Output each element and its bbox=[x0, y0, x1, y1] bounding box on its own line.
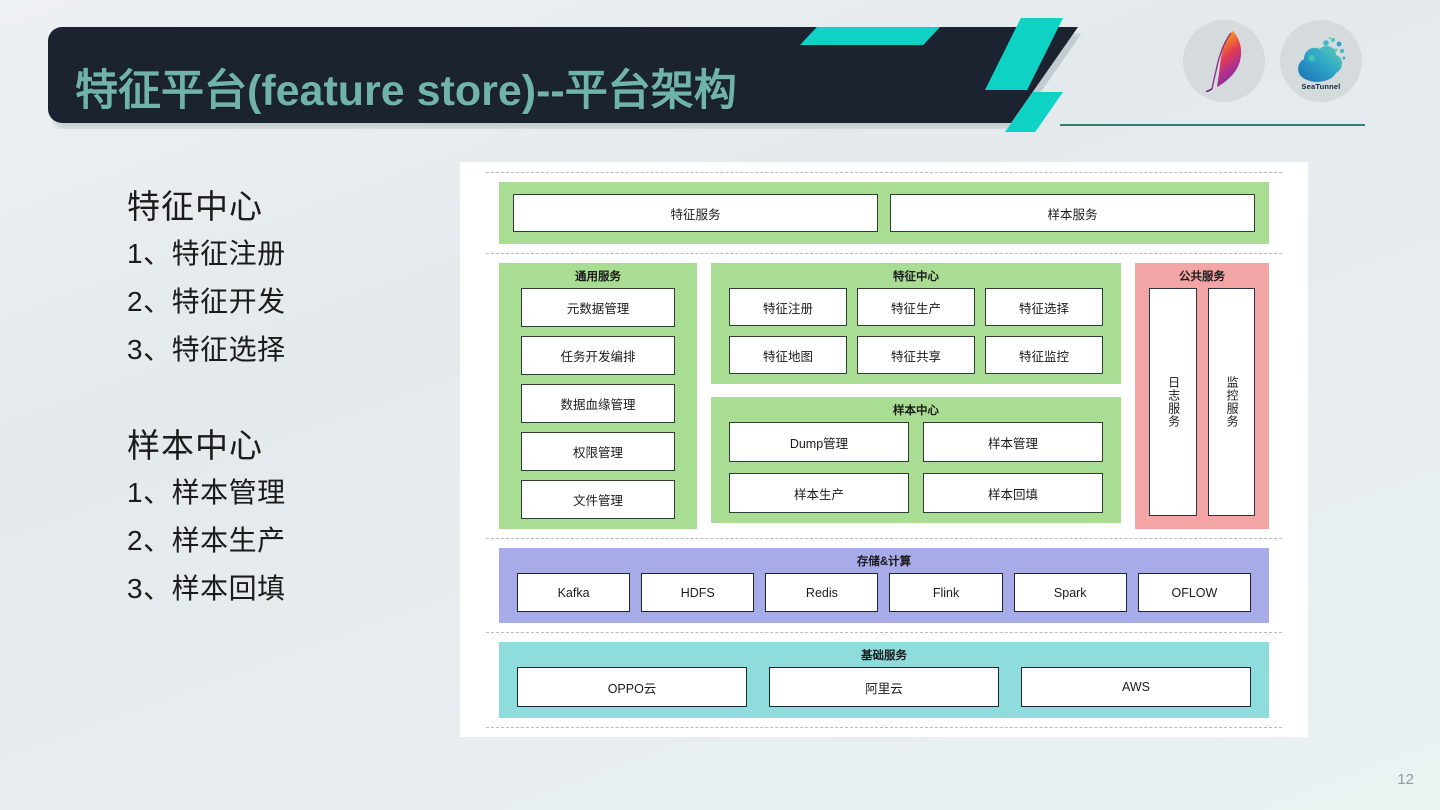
sample-center-item-1: 1、样本管理 bbox=[127, 469, 447, 517]
group-title-public-services: 公共服务 bbox=[1135, 263, 1269, 288]
page-title: 特征平台(feature store)--平台架构 bbox=[75, 56, 737, 118]
group-title-infrastructure: 基础服务 bbox=[499, 642, 1269, 667]
apache-feather-logo bbox=[1183, 20, 1265, 102]
cell-sample-backfill[interactable]: 样本回填 bbox=[923, 473, 1103, 513]
feature-center-item-2: 2、特征开发 bbox=[127, 278, 447, 326]
group-title-storage-compute: 存储&计算 bbox=[499, 548, 1269, 573]
cell-feature-monitoring[interactable]: 特征监控 bbox=[985, 336, 1103, 374]
cell-sample-management[interactable]: 样本管理 bbox=[923, 422, 1103, 462]
layer-core: 通用服务 元数据管理 任务开发编排 数据血缘管理 权限管理 文件管理 特征中心 … bbox=[499, 263, 1269, 529]
cell-oppo-cloud[interactable]: OPPO云 bbox=[517, 667, 747, 707]
cell-redis[interactable]: Redis bbox=[765, 573, 878, 612]
feature-center-item-1: 1、特征注册 bbox=[127, 230, 447, 278]
cell-log-service-label: 日志服务 bbox=[1166, 376, 1180, 428]
group-title-sample-center: 样本中心 bbox=[711, 397, 1121, 422]
title-accent-notch bbox=[800, 27, 940, 45]
cell-feature-sharing[interactable]: 特征共享 bbox=[857, 336, 975, 374]
group-common-services: 通用服务 元数据管理 任务开发编排 数据血缘管理 权限管理 文件管理 bbox=[499, 263, 697, 529]
group-centers: 特征中心 特征注册 特征生产 特征选择 特征地图 特征共享 特征监控 样本中心 … bbox=[711, 263, 1121, 529]
group-sample-center: 样本中心 Dump管理 样本管理 样本生产 样本回填 bbox=[711, 397, 1121, 523]
layer-storage-compute: 存储&计算 Kafka HDFS Redis Flink Spark OFLOW bbox=[499, 548, 1269, 623]
layer-infrastructure: 基础服务 OPPO云 阿里云 AWS bbox=[499, 642, 1269, 718]
cell-log-service[interactable]: 日志服务 bbox=[1149, 288, 1197, 516]
group-public-services: 公共服务 日志服务 监控服务 bbox=[1135, 263, 1269, 529]
cell-dump-management[interactable]: Dump管理 bbox=[729, 422, 909, 462]
cell-spark[interactable]: Spark bbox=[1014, 573, 1127, 612]
left-content-column: 特征中心 1、特征注册 2、特征开发 3、特征选择 样本中心 1、样本管理 2、… bbox=[127, 185, 447, 613]
cell-hdfs[interactable]: HDFS bbox=[641, 573, 754, 612]
cell-file-management[interactable]: 文件管理 bbox=[521, 480, 675, 519]
divider-dashed-bottom bbox=[486, 727, 1282, 728]
section-heading-sample-center: 样本中心 bbox=[127, 424, 447, 469]
sample-center-item-3: 3、样本回填 bbox=[127, 565, 447, 613]
cell-aliyun[interactable]: 阿里云 bbox=[769, 667, 999, 707]
architecture-diagram: 特征服务 样本服务 通用服务 元数据管理 任务开发编排 数据血缘管理 权限管理 … bbox=[460, 162, 1308, 737]
cell-monitor-service[interactable]: 监控服务 bbox=[1208, 288, 1256, 516]
cell-feature-map[interactable]: 特征地图 bbox=[729, 336, 847, 374]
cell-feature-register[interactable]: 特征注册 bbox=[729, 288, 847, 326]
cell-feature-production[interactable]: 特征生产 bbox=[857, 288, 975, 326]
cell-flink[interactable]: Flink bbox=[889, 573, 1002, 612]
cell-sample-production[interactable]: 样本生产 bbox=[729, 473, 909, 513]
cell-aws[interactable]: AWS bbox=[1021, 667, 1251, 707]
cell-sample-service[interactable]: 样本服务 bbox=[890, 194, 1255, 232]
sample-center-item-2: 2、样本生产 bbox=[127, 517, 447, 565]
page-number: 12 bbox=[1397, 771, 1414, 788]
group-feature-center: 特征中心 特征注册 特征生产 特征选择 特征地图 特征共享 特征监控 bbox=[711, 263, 1121, 384]
cell-feature-service[interactable]: 特征服务 bbox=[513, 194, 878, 232]
title-underline bbox=[1060, 124, 1365, 126]
layer-service: 特征服务 样本服务 bbox=[499, 182, 1269, 244]
cell-kafka[interactable]: Kafka bbox=[517, 573, 630, 612]
group-title-common-services: 通用服务 bbox=[499, 263, 697, 288]
cell-feature-selection[interactable]: 特征选择 bbox=[985, 288, 1103, 326]
section-spacer bbox=[127, 374, 447, 424]
cell-task-dev-orchestration[interactable]: 任务开发编排 bbox=[521, 336, 675, 375]
seatunnel-whale-icon bbox=[1292, 35, 1350, 87]
slide-header: 特征平台(feature store)--平台架构 bbox=[0, 0, 1440, 150]
group-title-feature-center: 特征中心 bbox=[711, 263, 1121, 288]
cell-monitor-service-label: 监控服务 bbox=[1224, 376, 1238, 428]
cell-permission-management[interactable]: 权限管理 bbox=[521, 432, 675, 471]
seatunnel-logo-label: SeaTunnel bbox=[1280, 82, 1362, 91]
cell-metadata-management[interactable]: 元数据管理 bbox=[521, 288, 675, 327]
feature-center-item-3: 3、特征选择 bbox=[127, 326, 447, 374]
apache-feather-icon bbox=[1202, 30, 1246, 92]
section-heading-feature-center: 特征中心 bbox=[127, 185, 447, 230]
cell-oflow[interactable]: OFLOW bbox=[1138, 573, 1251, 612]
cell-data-lineage-management[interactable]: 数据血缘管理 bbox=[521, 384, 675, 423]
